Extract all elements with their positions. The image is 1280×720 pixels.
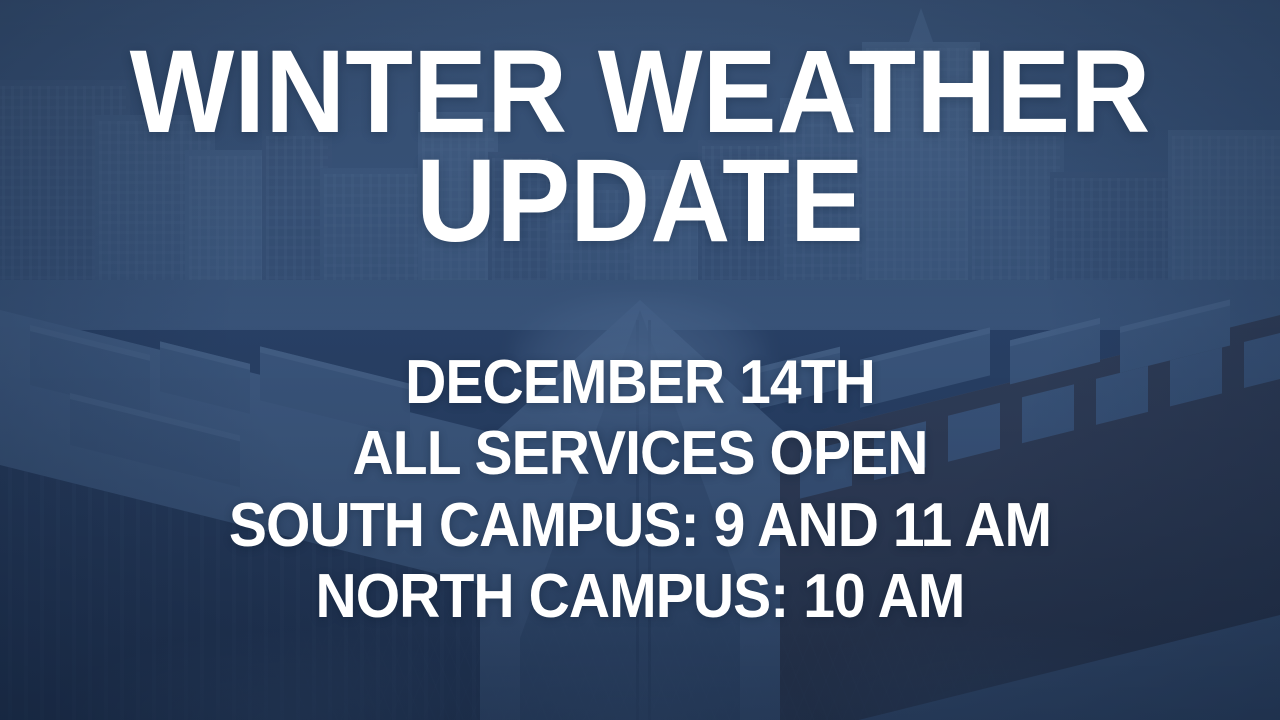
poster-details: DECEMBER 14TH ALL SERVICES OPEN SOUTH CA… — [51, 347, 1229, 632]
poster-content: WINTER WEATHER UPDATE DECEMBER 14TH ALL … — [0, 0, 1280, 720]
poster-headline: WINTER WEATHER UPDATE — [38, 38, 1241, 255]
headline-line-2: UPDATE — [38, 147, 1241, 256]
details-line-date: DECEMBER 14TH — [51, 347, 1229, 418]
details-line-north-campus: NORTH CAMPUS: 10 AM — [51, 561, 1229, 632]
details-line-south-campus: SOUTH CAMPUS: 9 AND 11 AM — [51, 490, 1229, 561]
headline-line-1: WINTER WEATHER — [38, 38, 1241, 147]
details-line-services: ALL SERVICES OPEN — [51, 418, 1229, 489]
winter-weather-poster: WINTER WEATHER UPDATE DECEMBER 14TH ALL … — [0, 0, 1280, 720]
